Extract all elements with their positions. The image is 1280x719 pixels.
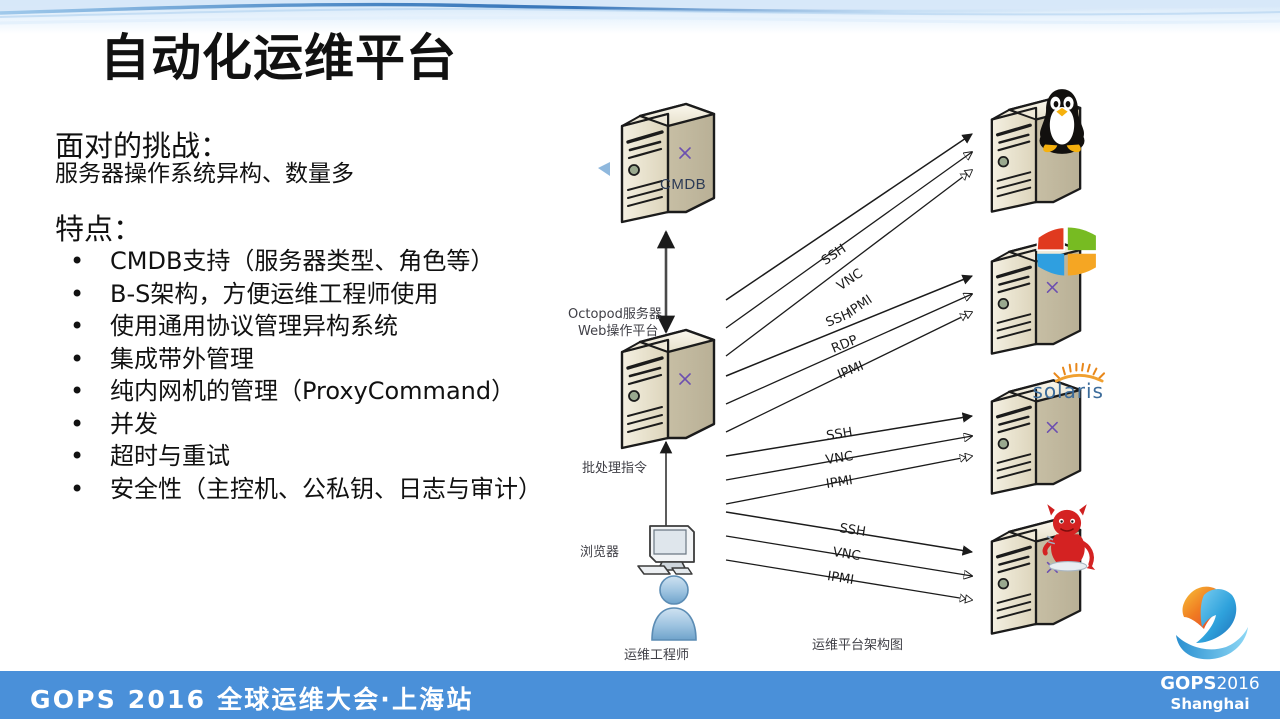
list-item: •使用通用协议管理异构系统 [62,310,582,343]
gops-logo-plate: GOPS2016 Shanghai [1152,671,1268,719]
bullet-icon: • [70,310,84,343]
gops-logo-name: GOPS [1160,673,1216,694]
architecture-diagram: solaris [540,60,1160,660]
svg-text:SSH: SSH [838,521,866,540]
list-item-label: 纯内网机的管理（ProxyCommand） [110,377,515,405]
left-pointer-icon [598,162,610,176]
list-item-label: CMDB支持（服务器类型、角色等） [110,247,494,275]
octopod-label-line2: Web操作平台 [578,320,658,339]
slide-root: 自动化运维平台 面对的挑战： 服务器操作系统异构、数量多 特点： •CMDB支持… [0,0,1280,719]
svg-text:VNC: VNC [832,545,862,564]
protocol-labels-freebsd: SSH VNC IPMI [826,521,867,588]
gops-logo-year: 2016 [1216,674,1259,694]
list-item-label: 超时与重试 [110,442,230,470]
bullet-icon: • [70,440,84,473]
page-title: 自动化运维平台 [100,28,457,88]
bullet-icon: • [70,343,84,376]
footer-bar: GOPS 2016 全球运维大会·上海站 [0,671,1280,719]
browser-label: 浏览器 [580,541,619,560]
gops-logo: GOPS2016 Shanghai [1152,569,1268,719]
gops-logo-title: GOPS2016 [1152,673,1268,694]
list-item: •B-S架构，方便运维工程师使用 [62,278,582,311]
list-item: •纯内网机的管理（ProxyCommand） [62,375,582,408]
list-item-label: 集成带外管理 [110,345,254,373]
diagram-caption: 运维平台架构图 [812,634,903,653]
bullet-icon: • [70,278,84,311]
list-item-label: 并发 [110,410,158,438]
gops-logo-mark-icon [1160,573,1260,673]
list-item: •并发 [62,408,582,441]
svg-text:SSH: SSH [824,307,854,331]
bullet-icon: • [70,473,84,506]
protocol-labels-solaris: SSH VNC IPMI [825,425,855,492]
list-item: •CMDB支持（服务器类型、角色等） [62,245,582,278]
svg-text:VNC: VNC [825,449,855,468]
bullet-icon: • [70,375,84,408]
protocol-group-windows [726,276,972,432]
cmdb-label: CMDB [660,176,706,193]
engineer-label: 运维工程师 [624,644,689,663]
batch-command-label: 批处理指令 [582,457,647,476]
list-item: •集成带外管理 [62,343,582,376]
list-item: •安全性（主控机、公私钥、日志与审计） [62,473,582,506]
features-heading: 特点： [55,210,142,248]
svg-text:IPMI: IPMI [826,569,855,588]
list-item-label: 安全性（主控机、公私钥、日志与审计） [110,475,542,503]
svg-text:SSH: SSH [825,425,853,444]
footer-text: GOPS 2016 全球运维大会·上海站 [30,680,474,716]
svg-text:SSH: SSH [819,242,849,269]
bullet-icon: • [70,408,84,441]
svg-text:IPMI: IPMI [835,359,865,383]
features-list: •CMDB支持（服务器类型、角色等） •B-S架构，方便运维工程师使用 •使用通… [62,245,582,505]
protocol-group-linux [726,134,972,356]
challenge-text: 服务器操作系统异构、数量多 [55,158,354,190]
gops-logo-city: Shanghai [1152,695,1268,713]
list-item: •超时与重试 [62,440,582,473]
svg-text:RDP: RDP [829,333,860,357]
list-item-label: 使用通用协议管理异构系统 [110,312,398,340]
bullet-icon: • [70,245,84,278]
svg-text:IPMI: IPMI [825,473,854,492]
list-item-label: B-S架构，方便运维工程师使用 [110,280,438,308]
